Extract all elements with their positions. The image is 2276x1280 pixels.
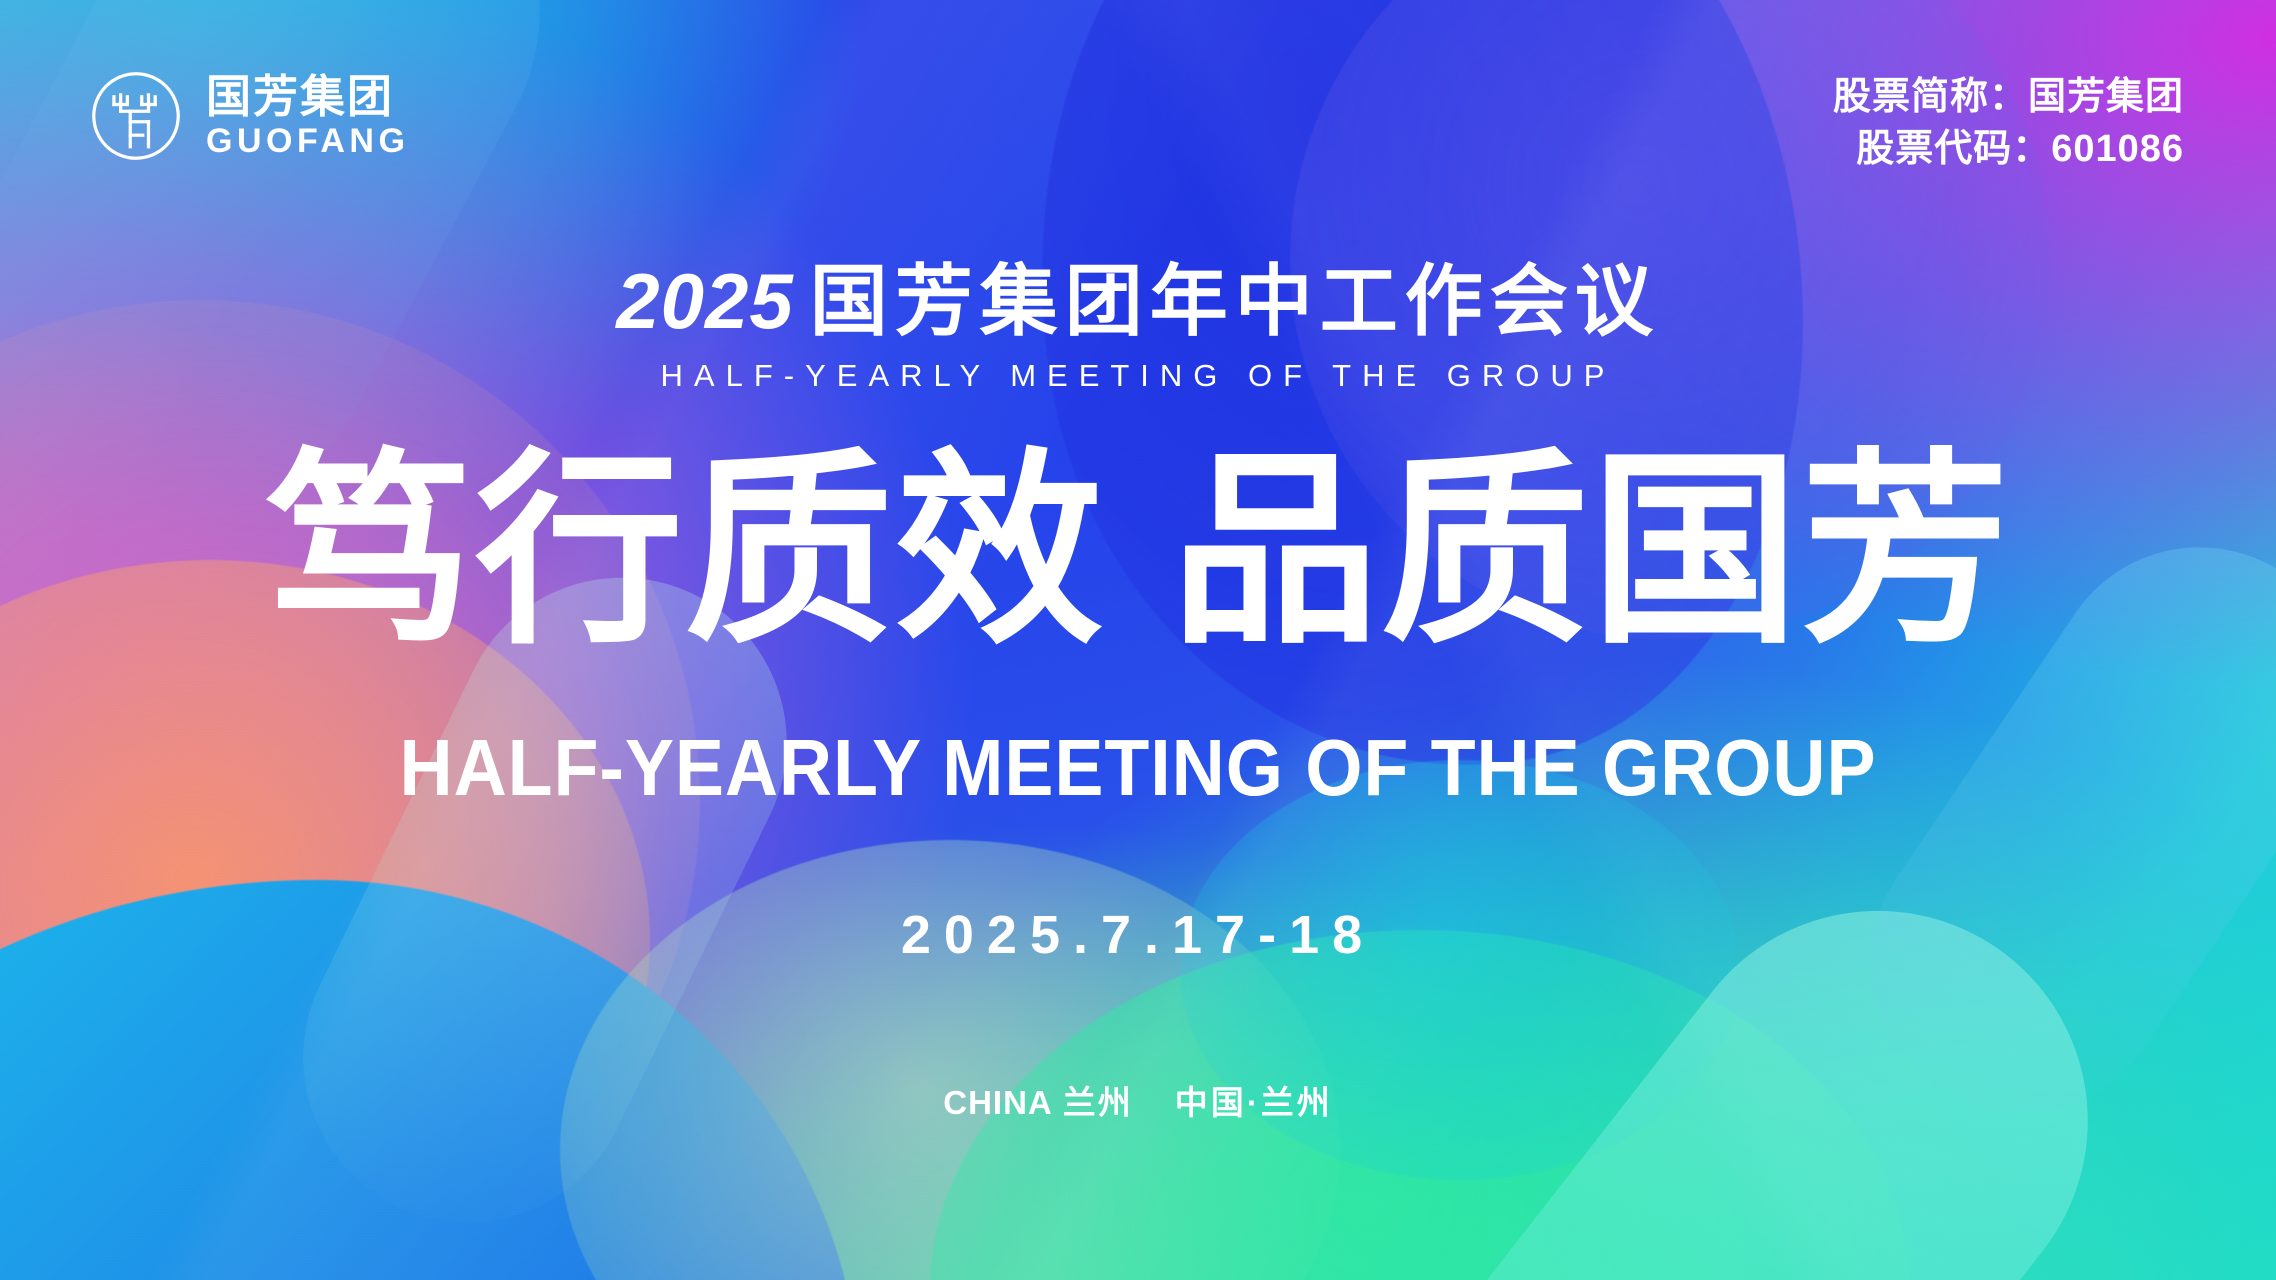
hero-slogan-part2: 品质国芳: [1171, 436, 2011, 668]
location-country-en: CHINA: [943, 1084, 1053, 1121]
brand-name-en: GUOFANG: [206, 124, 409, 158]
stock-abbreviation-line: 股票简称：国芳集团: [1833, 72, 2184, 124]
brand-name-cn: 国芳集团: [206, 74, 409, 119]
brand-wordmark: 国芳集团 GUOFANG: [206, 74, 409, 158]
event-subtitle-en: HALF-YEARLY MEETING OF THE GROUP: [0, 358, 2276, 394]
hero-slogan: 笃行质效品质国芳: [0, 448, 2276, 656]
stock-info: 股票简称：国芳集团 股票代码：601086: [1833, 72, 2184, 175]
event-year: 2025: [616, 257, 810, 345]
guofang-deer-circle-icon: [88, 68, 184, 164]
event-title: 2025国芳集团年中工作会议: [0, 262, 2276, 340]
brand-logo: 国芳集团 GUOFANG: [88, 68, 409, 164]
location-city-cn: 兰州: [1063, 1084, 1133, 1121]
event-title-block: 2025国芳集团年中工作会议 HALF-YEARLY MEETING OF TH…: [0, 262, 2276, 394]
stock-code-line: 股票代码：601086: [1833, 124, 2184, 176]
event-title-cn: 国芳集团年中工作会议: [810, 257, 1660, 345]
hero-slogan-en: HALF-YEARLY MEETING OF THE GROUP: [91, 728, 2185, 808]
hero-slogan-part1: 笃行质效: [265, 436, 1105, 668]
location-full-cn: 中国·兰州: [1175, 1084, 1333, 1121]
event-date: 2025.7.17-18: [0, 908, 2276, 962]
event-location: CHINA兰州中国·兰州: [0, 1086, 2276, 1119]
conference-poster: 国芳集团 GUOFANG 股票简称：国芳集团 股票代码：601086 2025国…: [0, 0, 2276, 1280]
